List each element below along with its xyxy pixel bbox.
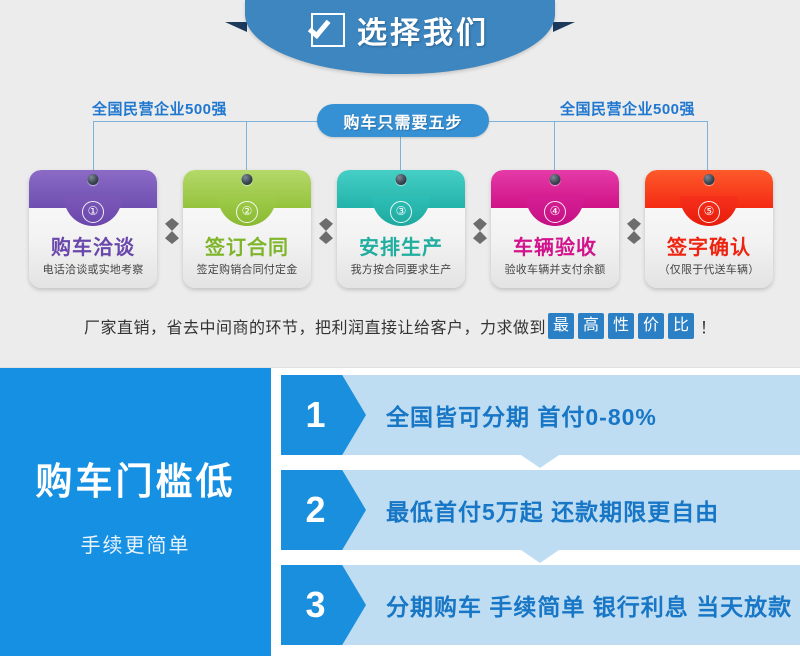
bottom-section: 购车门槛低 手续更简单 1 全国皆可分期 首付0-80% 2 最低首付5万起 还… <box>0 368 800 656</box>
arrow-separator-icon <box>319 218 333 244</box>
step-card-1[interactable]: ① 购车洽谈 电话洽谈或实地考察 <box>29 170 157 288</box>
pin-icon <box>242 174 253 185</box>
slogan-box-1: 最 <box>548 313 574 339</box>
step-1-title: 购车洽谈 <box>29 231 157 260</box>
step-4-number: ④ <box>544 201 566 223</box>
step-1-subtitle: 电话洽谈或实地考察 <box>29 261 157 277</box>
step-3-title: 安排生产 <box>337 231 465 260</box>
threshold-title: 购车门槛低 <box>0 451 271 505</box>
badge-left: 全国民营企业500强 <box>92 98 227 119</box>
banner-content: 选择我们 <box>245 0 555 60</box>
top-section: 选择我们 全国民营企业500强 全国民营企业500强 购车只需要五步 ① 购车洽… <box>0 0 800 368</box>
pin-icon <box>396 174 407 185</box>
infographic-page: 选择我们 全国民营企业500强 全国民营企业500强 购车只需要五步 ① 购车洽… <box>0 0 800 656</box>
step-5-subtitle: （仅限于代送车辆） <box>645 261 773 277</box>
step-5-title: 签字确认 <box>645 231 773 260</box>
step-2-title: 签订合同 <box>183 231 311 260</box>
arrow-separator-icon <box>627 218 641 244</box>
banner-fold-right-icon <box>553 22 575 32</box>
benefit-row-2-number: 2 <box>281 470 366 550</box>
slogan-row: 厂家直销，省去中间商的环节，把利润直接让给客户，力求做到 最 高 性 价 比 ！ <box>0 313 800 339</box>
step-3-subtitle: 我方按合同要求生产 <box>337 261 465 277</box>
step-1-number: ① <box>82 201 104 223</box>
benefit-row-1-text: 全国皆可分期 首付0-80% <box>386 375 657 455</box>
step-3-number: ③ <box>390 201 412 223</box>
threshold-subtitle: 手续更简单 <box>0 529 271 558</box>
badge-right: 全国民营企业500强 <box>560 98 695 119</box>
badge-center: 购车只需要五步 <box>317 104 489 137</box>
step-card-4[interactable]: ④ 车辆验收 验收车辆并支付余额 <box>491 170 619 288</box>
slogan-box-3: 性 <box>608 313 634 339</box>
step-4-title: 车辆验收 <box>491 231 619 260</box>
pin-icon <box>550 174 561 185</box>
step-card-3[interactable]: ③ 安排生产 我方按合同要求生产 <box>337 170 465 288</box>
row-notch-icon <box>521 550 559 563</box>
step-4-subtitle: 验收车辆并支付余额 <box>491 261 619 277</box>
benefit-row-1[interactable]: 1 全国皆可分期 首付0-80% <box>281 375 800 455</box>
header-banner: 选择我们 <box>225 0 575 78</box>
slogan-box-5: 比 <box>668 313 694 339</box>
step-card-2[interactable]: ② 签订合同 签定购销合同付定金 <box>183 170 311 288</box>
benefit-row-3-text: 分期购车 手续简单 银行利息 当天放款 <box>386 565 792 645</box>
threshold-panel: 购车门槛低 手续更简单 <box>0 368 271 656</box>
slogan-box-4: 价 <box>638 313 664 339</box>
step-card-5[interactable]: ⑤ 签字确认 （仅限于代送车辆） <box>645 170 773 288</box>
step-2-number: ② <box>236 201 258 223</box>
slogan-text: 厂家直销，省去中间商的环节，把利润直接让给客户，力求做到 <box>84 314 546 338</box>
row-notch-icon <box>521 455 559 468</box>
benefit-row-1-number: 1 <box>281 375 366 455</box>
page-title: 选择我们 <box>357 8 489 52</box>
step-5-number: ⑤ <box>698 201 720 223</box>
benefit-row-2[interactable]: 2 最低首付5万起 还款期限更自由 <box>281 470 800 550</box>
slogan-box-2: 高 <box>578 313 604 339</box>
pin-icon <box>704 174 715 185</box>
slogan-exclamation: ！ <box>700 314 716 338</box>
benefit-row-3-number: 3 <box>281 565 366 645</box>
badge-center-label: 购车只需要五步 <box>343 109 462 133</box>
benefit-rows: 1 全国皆可分期 首付0-80% 2 最低首付5万起 还款期限更自由 3 分期购… <box>281 368 800 656</box>
arrow-separator-icon <box>473 218 487 244</box>
benefit-row-3[interactable]: 3 分期购车 手续简单 银行利息 当天放款 <box>281 565 800 645</box>
step-2-subtitle: 签定购销合同付定金 <box>183 261 311 277</box>
benefit-row-2-text: 最低首付5万起 还款期限更自由 <box>386 470 719 550</box>
arrow-separator-icon <box>165 218 179 244</box>
pin-icon <box>88 174 99 185</box>
checkbox-checked-icon <box>311 13 345 47</box>
banner-fold-left-icon <box>225 22 247 32</box>
